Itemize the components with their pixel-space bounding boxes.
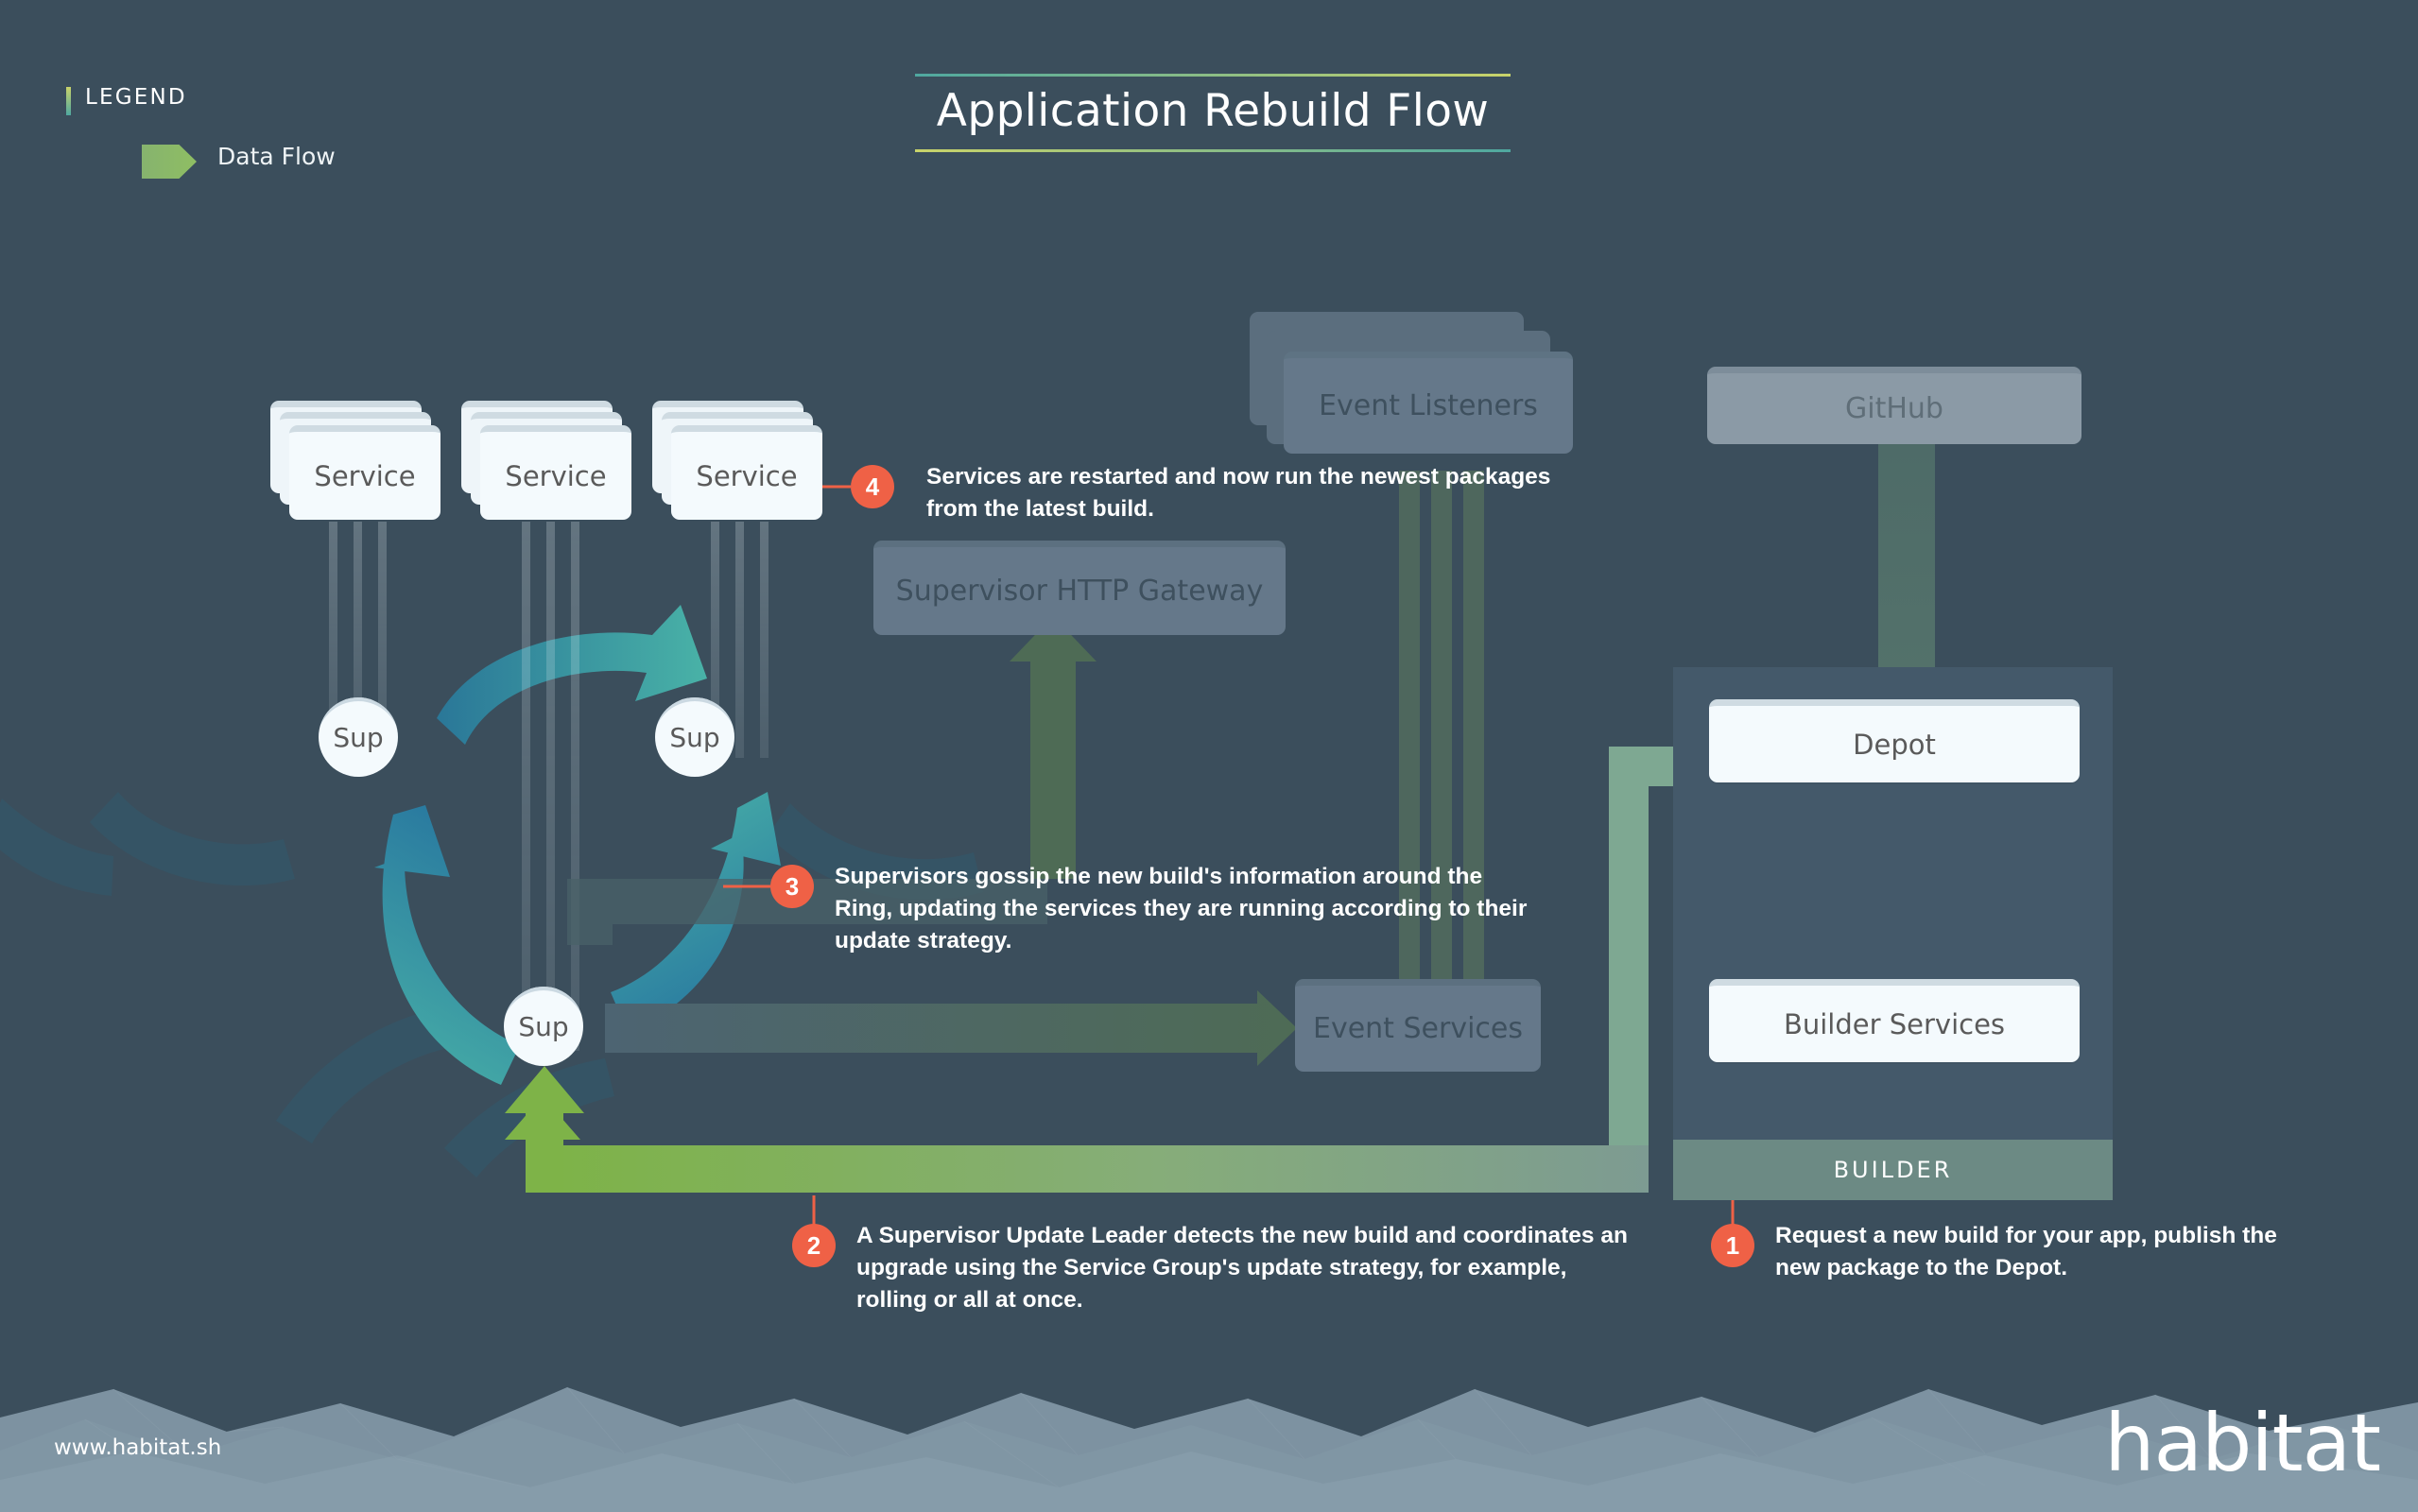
callout-1-badge: 1 [1711,1224,1754,1267]
diagram-canvas: LEGEND Data Flow Application Rebuild Flo… [0,0,2418,1512]
callout-3-badge: 3 [770,865,814,908]
callout-4-text: Services are restarted and now run the n… [926,461,1588,525]
node-supervisor-1-label: Sup [333,722,383,753]
title-rule-bottom [915,149,1511,152]
node-event-listeners[interactable]: Event Listeners [1250,312,1577,463]
node-event-services-label: Event Services [1313,1012,1523,1045]
data-flow-arrow-icon [142,145,197,179]
callout-2-text: A Supervisor Update Leader detects the n… [856,1220,1632,1316]
builder-to-ring-flow-band [556,1145,1649,1193]
page-title-block: Application Rebuild Flow [915,74,1511,152]
legend-heading: LEGEND [85,85,187,110]
callout-1-text: Request a new build for your app, publis… [1775,1220,2314,1284]
node-builder-services-label: Builder Services [1784,1008,2005,1040]
builder-band: BUILDER [1673,1140,2113,1200]
node-supervisor-http-gateway-label: Supervisor HTTP Gateway [896,575,1264,608]
node-service-3-label: Service [696,460,797,492]
node-service-3[interactable]: Service [652,401,841,524]
site-url[interactable]: www.habitat.sh [54,1435,221,1460]
gateway-up-arrow [1010,616,1097,879]
node-supervisor-2-label: Sup [669,722,719,753]
node-depot[interactable]: Depot [1709,699,2080,782]
node-supervisor-2[interactable]: Sup [655,697,734,777]
event-listeners-front: Event Listeners [1284,352,1573,454]
node-event-services[interactable]: Event Services [1295,979,1541,1072]
callout-2-badge: 2 [792,1224,836,1267]
node-supervisor-3-label: Sup [518,1011,568,1042]
ring-ghost-arcs [0,792,983,1177]
legend-item-label: Data Flow [217,143,336,170]
service-2-front: Service [480,425,631,520]
habitat-logo: habitat [2104,1397,2380,1489]
footer-mountains [0,1361,2418,1512]
node-supervisor-http-gateway[interactable]: Supervisor HTTP Gateway [873,541,1286,635]
node-supervisor-3[interactable]: Sup [504,987,583,1066]
node-service-2[interactable]: Service [461,401,650,524]
callout-3-text: Supervisors gossip the new build's infor… [835,861,1534,957]
node-github-label: GitHub [1845,392,1943,425]
node-event-listeners-label: Event Listeners [1319,389,1538,422]
node-service-1-label: Service [314,460,415,492]
page-title: Application Rebuild Flow [915,77,1511,149]
builder-band-label: BUILDER [1834,1157,1953,1183]
node-service-1[interactable]: Service [270,401,459,524]
node-builder-services[interactable]: Builder Services [1709,979,2080,1062]
node-supervisor-1[interactable]: Sup [319,697,398,777]
service-3-front: Service [671,425,822,520]
legend-accent-bar [66,87,71,115]
legend-item-data-flow: Data Flow [78,140,380,178]
node-github[interactable]: GitHub [1707,367,2081,444]
node-service-2-label: Service [505,460,606,492]
service-1-front: Service [289,425,440,520]
callout-4-badge: 4 [851,465,894,508]
node-depot-label: Depot [1853,729,1936,761]
supervisor-to-event-services-arrow [605,990,1297,1066]
